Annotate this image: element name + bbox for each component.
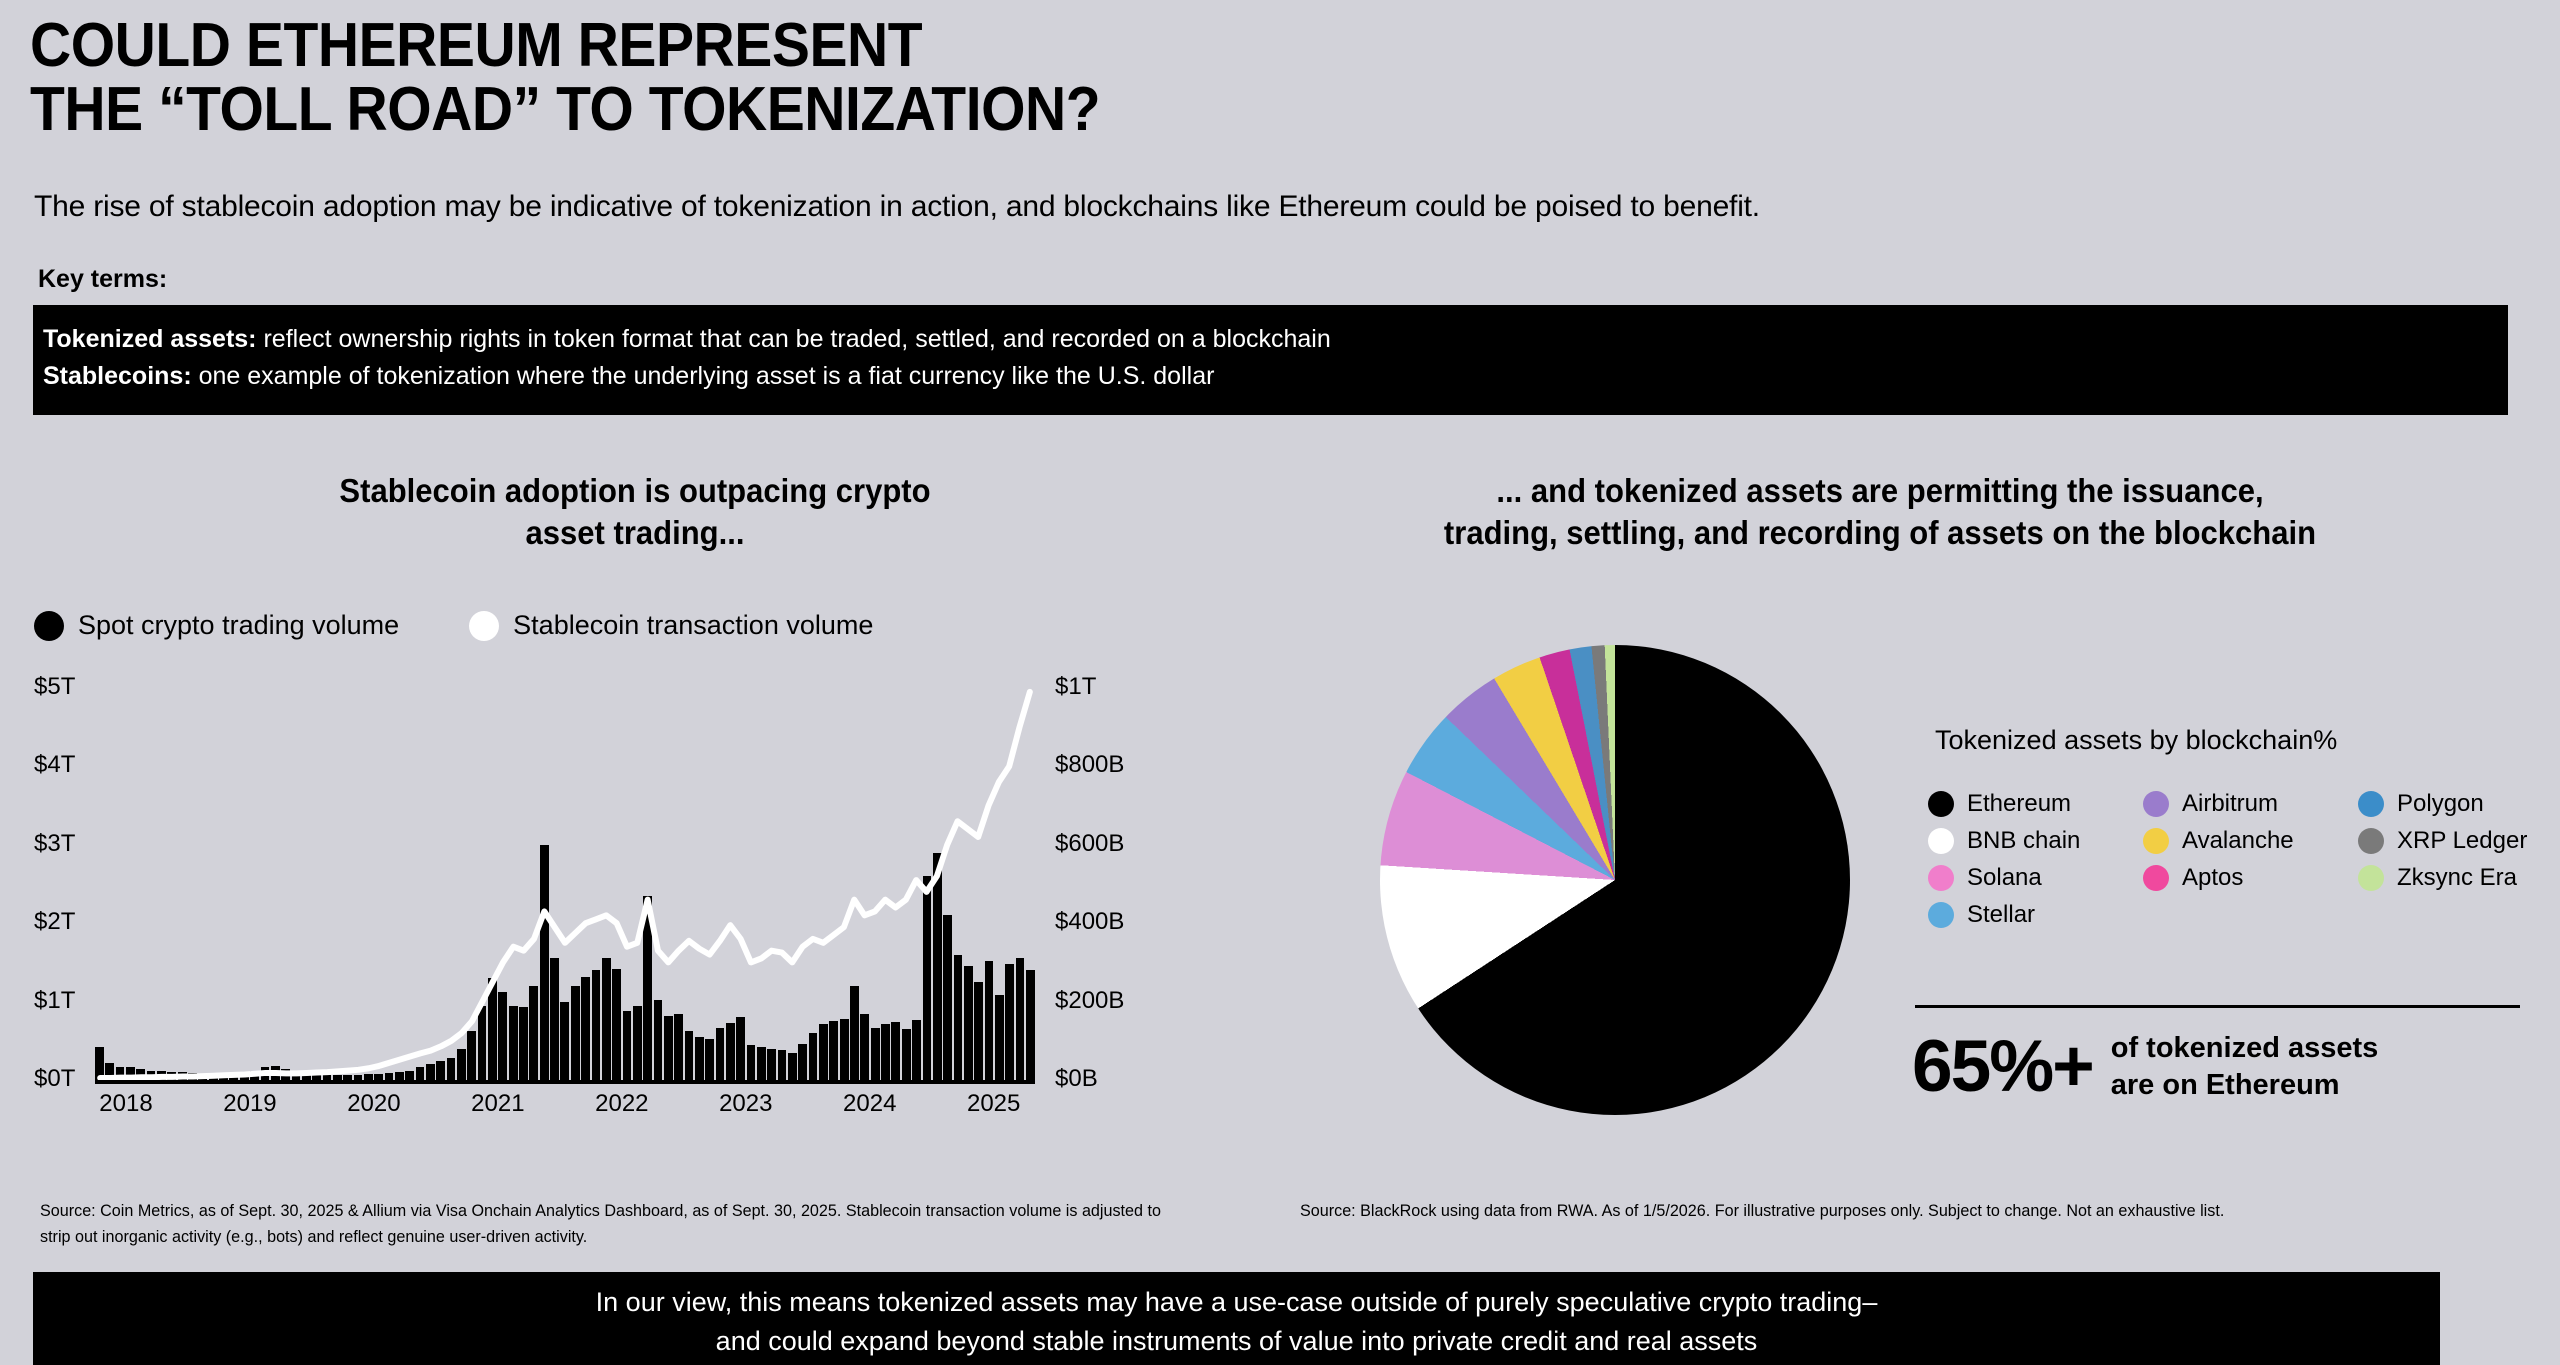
pie-legend-item: BNB chain [1928, 827, 2143, 855]
pie-legend-label: Polygon [2397, 790, 2484, 818]
legend-label: Spot crypto trading volume [78, 610, 399, 641]
left-chart-title: Stablecoin adoption is outpacing crypto … [123, 470, 1148, 554]
legend-label: Stablecoin transaction volume [513, 610, 873, 641]
key-term-name: Tokenized assets: [43, 325, 257, 353]
legend-dot-icon [2143, 865, 2169, 891]
pie-legend-label: Ethereum [1967, 790, 2071, 818]
key-term-definition: one example of tokenization where the un… [192, 362, 1215, 390]
page-title: COULD ETHEREUM REPRESENT THE “TOLL ROAD”… [30, 14, 2510, 142]
x-axis-labels: 20182019202020212022202320242025 [95, 1090, 1035, 1130]
pie-legend-label: Stellar [1967, 901, 2035, 929]
legend-dot-icon [469, 611, 499, 641]
x-axis-tick: 2018 [99, 1090, 152, 1118]
headline-line-1: COULD ETHEREUM REPRESENT [30, 14, 2312, 78]
x-axis-tick: 2020 [347, 1090, 400, 1118]
y-axis-left-tick: $1T [34, 987, 75, 1015]
pie-legend-label: Airbitrum [2182, 790, 2278, 818]
legend-dot-icon [1928, 902, 1954, 928]
x-axis-tick: 2019 [223, 1090, 276, 1118]
x-axis-tick: 2022 [595, 1090, 648, 1118]
stat-description: of tokenized assets are on Ethereum [2111, 1030, 2379, 1103]
legend-dot-icon [1928, 791, 1954, 817]
legend-dot-icon [2358, 791, 2384, 817]
y-axis-right-tick: $0B [1055, 1065, 1098, 1093]
key-term-name: Stablecoins: [43, 362, 192, 390]
pie-legend-item: Stellar [1928, 901, 2143, 929]
key-terms-label: Key terms: [38, 265, 167, 294]
right-chart-title-line-1: ... and tokenized assets are permitting … [1325, 470, 2434, 512]
pie-legend-item: Polygon [2358, 790, 2538, 818]
y-axis-right-tick: $800B [1055, 751, 1124, 779]
bottom-banner-line-1: In our view, this means tokenized assets… [596, 1283, 1878, 1321]
pie-chart-tokenized-assets [1380, 645, 1850, 1115]
y-axis-left-tick: $2T [34, 908, 75, 936]
left-chart-source: Source: Coin Metrics, as of Sept. 30, 20… [40, 1198, 1161, 1251]
pie-legend-item: Solana [1928, 864, 2143, 892]
stat-callout: 65%+ of tokenized assets are on Ethereum [1912, 1030, 2378, 1103]
left-chart-title-line-2: asset trading... [123, 512, 1148, 554]
y-axis-right-tick: $400B [1055, 908, 1124, 936]
x-axis-tick: 2021 [471, 1090, 524, 1118]
pie-legend-item: XRP Ledger [2358, 827, 2538, 855]
headline-line-2: THE “TOLL ROAD” TO TOKENIZATION? [30, 78, 2312, 142]
pie-legend: EthereumAirbitrumPolygonBNB chainAvalanc… [1928, 785, 2538, 933]
pie-legend-item: Avalanche [2143, 827, 2358, 855]
pie-legend-label: Solana [1967, 864, 2042, 892]
legend-dot-icon [2358, 828, 2384, 854]
x-axis-tick: 2025 [967, 1090, 1020, 1118]
y-axis-left-tick: $4T [34, 751, 75, 779]
pie-legend-item: Aptos [2143, 864, 2358, 892]
pie-legend-item: Airbitrum [2143, 790, 2358, 818]
key-term-definition: reflect ownership rights in token format… [257, 325, 1331, 353]
legend-dot-icon [1928, 865, 1954, 891]
stat-description-line-1: of tokenized assets [2111, 1030, 2379, 1067]
right-chart-title-line-2: trading, settling, and recording of asse… [1325, 512, 2434, 554]
bottom-banner: In our view, this means tokenized assets… [33, 1272, 2440, 1365]
right-chart-source: Source: BlackRock using data from RWA. A… [1300, 1198, 2364, 1224]
stablecoin-line [100, 692, 1030, 1078]
legend-dot-icon [2143, 828, 2169, 854]
legend-dot-icon [2358, 865, 2384, 891]
x-axis-tick: 2024 [843, 1090, 896, 1118]
legend-dot-icon [34, 611, 64, 641]
x-axis-tick: 2023 [719, 1090, 772, 1118]
line-series-stablecoin [95, 688, 1035, 1080]
pie-legend-label: Avalanche [2182, 827, 2294, 855]
key-term-row: Stablecoins: one example of tokenization… [43, 358, 2508, 395]
y-axis-left-tick: $0T [34, 1065, 75, 1093]
plot-area [95, 688, 1035, 1080]
pie-legend-label: XRP Ledger [2397, 827, 2527, 855]
legend-dot-icon [2143, 791, 2169, 817]
stat-description-line-2: are on Ethereum [2111, 1067, 2379, 1104]
divider [1915, 1005, 2520, 1008]
subheadline: The rise of stablecoin adoption may be i… [34, 190, 1760, 224]
pie-legend-label: Aptos [2182, 864, 2243, 892]
legend-item-stablecoin: Stablecoin transaction volume [469, 610, 873, 641]
pie-legend-item: Ethereum [1928, 790, 2143, 818]
legend-item-spot-crypto: Spot crypto trading volume [34, 610, 399, 641]
pie-legend-title: Tokenized assets by blockchain% [1935, 725, 2337, 756]
y-axis-left-tick: $3T [34, 830, 75, 858]
left-chart: 20182019202020212022202320242025 $0T$1T$… [0, 670, 1180, 1140]
key-term-row: Tokenized assets: reflect ownership righ… [43, 321, 2508, 358]
y-axis-right-tick: $200B [1055, 987, 1124, 1015]
legend-dot-icon [1928, 828, 1954, 854]
stat-number: 65%+ [1912, 1030, 2093, 1103]
y-axis-right-tick: $1T [1055, 673, 1096, 701]
pie-legend-label: BNB chain [1967, 827, 2080, 855]
y-axis-right-tick: $600B [1055, 830, 1124, 858]
y-axis-left-tick: $5T [34, 673, 75, 701]
pie-legend-item: Zksync Era [2358, 864, 2538, 892]
x-axis-baseline [95, 1080, 1035, 1084]
right-chart-title: ... and tokenized assets are permitting … [1325, 470, 2434, 554]
left-chart-legend: Spot crypto trading volume Stablecoin tr… [34, 610, 873, 641]
pie-legend-label: Zksync Era [2397, 864, 2517, 892]
bottom-banner-line-2: and could expand beyond stable instrumen… [716, 1322, 1758, 1360]
key-terms-box: Tokenized assets: reflect ownership righ… [33, 305, 2508, 415]
left-chart-title-line-1: Stablecoin adoption is outpacing crypto [123, 470, 1148, 512]
